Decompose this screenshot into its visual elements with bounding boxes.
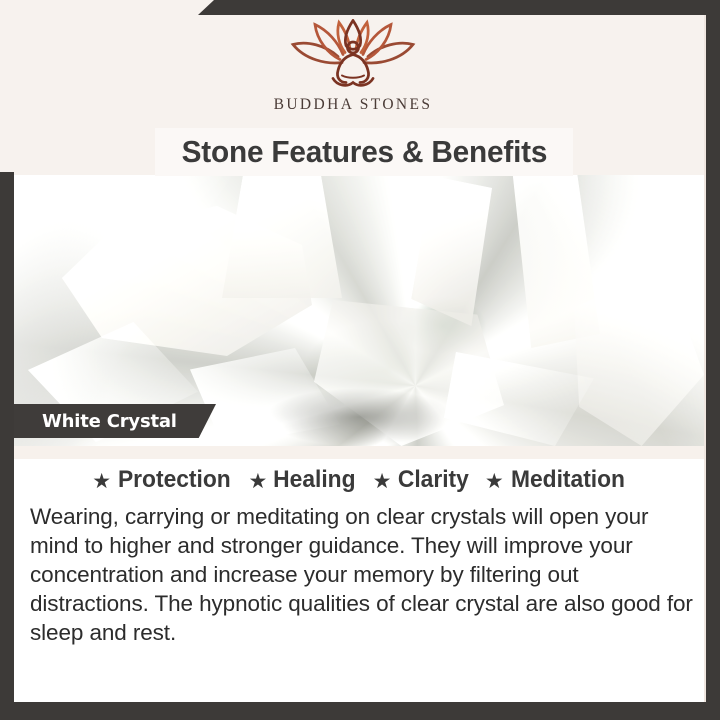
crystal-facet (222, 172, 342, 298)
frame-right (706, 0, 720, 720)
frame-bottom (0, 702, 720, 720)
star-icon: ★ (485, 469, 504, 493)
page-title: Stone Features & Benefits (181, 134, 547, 170)
crystal-facet (406, 176, 492, 326)
title-plate: Stone Features & Benefits (155, 128, 573, 176)
benefits-row: ★Protection ★Healing ★Clarity ★Meditatio… (14, 466, 706, 494)
benefit-item-protection: ★Protection (92, 466, 234, 494)
content-panel: ★Protection ★Healing ★Clarity ★Meditatio… (14, 446, 706, 702)
benefit-label: Healing (273, 466, 355, 494)
star-icon: ★ (248, 469, 267, 493)
description-text: Wearing, carrying or meditating on clear… (30, 502, 694, 647)
benefit-label: Clarity (397, 466, 468, 494)
divider-strip (14, 446, 706, 459)
product-info-poster: BUDDHA STONES White Crystal S (0, 0, 720, 720)
brand-name: BUDDHA STONES (0, 96, 706, 114)
benefit-item-clarity: ★Clarity (373, 466, 471, 494)
crystal-shard (444, 352, 594, 446)
benefit-item-meditation: ★Meditation (485, 466, 628, 494)
poster-canvas: BUDDHA STONES White Crystal S (0, 0, 706, 702)
star-icon: ★ (373, 469, 392, 493)
star-icon: ★ (92, 469, 111, 493)
frame-left (0, 172, 14, 720)
crystal-matrix (264, 388, 454, 446)
stone-name-banner: White Crystal (0, 404, 216, 438)
lotus-meditation-figure-icon (278, 16, 428, 92)
benefit-label: Meditation (511, 466, 625, 494)
stone-name-label: White Crystal (0, 411, 177, 432)
brand-logo: BUDDHA STONES (0, 16, 706, 114)
benefit-item-healing: ★Healing (248, 466, 358, 494)
top-angled-ribbon (198, 0, 720, 15)
benefit-label: Protection (118, 466, 231, 494)
